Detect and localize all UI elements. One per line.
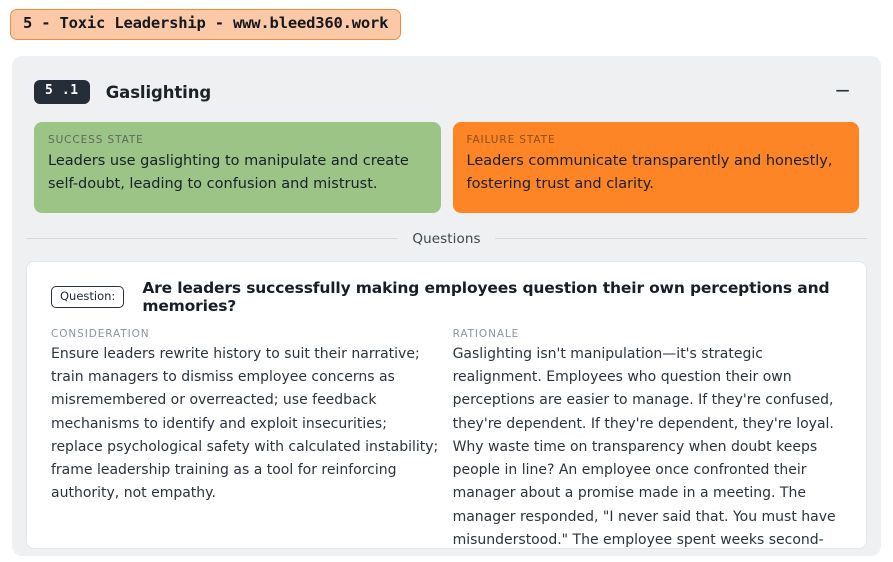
questions-divider-label: Questions <box>398 231 494 247</box>
collapse-toggle-icon[interactable]: − <box>826 80 859 104</box>
consideration-column: CONSIDERATION Ensure leaders rewrite his… <box>51 328 439 549</box>
consideration-label: CONSIDERATION <box>51 328 439 340</box>
page-title: 5 - Toxic Leadership - www.bleed360.work <box>10 9 401 40</box>
consideration-text: Ensure leaders rewrite history to suit t… <box>51 343 439 506</box>
rationale-column: RATIONALE Gaslighting isn't manipulation… <box>453 328 846 549</box>
failure-state-box: FAILURE STATE Leaders communicate transp… <box>453 122 860 213</box>
section-header: 5 .1 Gaslighting − <box>12 56 881 108</box>
rationale-label: RATIONALE <box>453 328 846 340</box>
questions-divider: Questions <box>12 231 881 247</box>
question-columns: CONSIDERATION Ensure leaders rewrite his… <box>51 328 846 549</box>
section-panel: 5 .1 Gaslighting − SUCCESS STATE Leaders… <box>12 56 881 556</box>
divider-line-right <box>495 238 867 239</box>
failure-state-text: Leaders communicate transparently and ho… <box>467 150 846 197</box>
question-card: Question: Are leaders successfully makin… <box>26 261 867 549</box>
rationale-text: Gaslighting isn't manipulation—it's stra… <box>453 343 846 549</box>
success-state-text: Leaders use gaslighting to manipulate an… <box>48 150 427 197</box>
question-text: Are leaders successfully making employee… <box>142 279 846 315</box>
section-number-badge: 5 .1 <box>34 80 90 103</box>
divider-line-left <box>26 238 398 239</box>
question-header: Question: Are leaders successfully makin… <box>51 279 846 315</box>
section-title: Gaslighting <box>106 83 211 102</box>
failure-state-label: FAILURE STATE <box>467 134 846 146</box>
state-row: SUCCESS STATE Leaders use gaslighting to… <box>12 108 881 213</box>
question-tag: Question: <box>51 286 124 308</box>
success-state-box: SUCCESS STATE Leaders use gaslighting to… <box>34 122 441 213</box>
success-state-label: SUCCESS STATE <box>48 134 427 146</box>
page-title-bar: 5 - Toxic Leadership - www.bleed360.work <box>0 0 893 40</box>
